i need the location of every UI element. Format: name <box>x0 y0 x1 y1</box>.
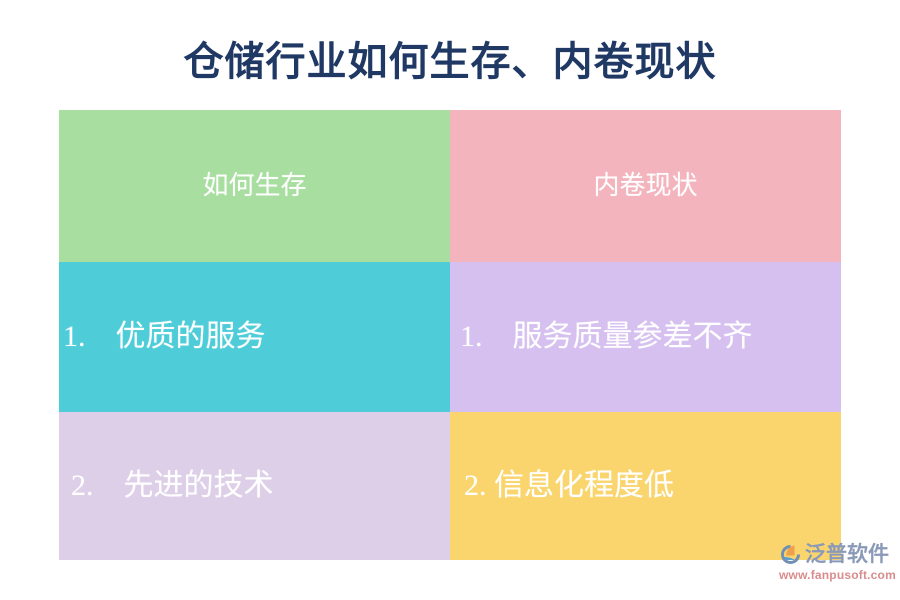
table-row: 2. 信息化程度低 <box>450 412 841 560</box>
table-row: 1. 服务质量参差不齐 <box>450 262 841 412</box>
slide-canvas: 仓储行业如何生存、内卷现状 如何生存 内卷现状 1. 优质的服务 1. 服务质量… <box>0 0 900 600</box>
table-header-label: 内卷现状 <box>593 169 697 203</box>
table-cell-label: 2. 先进的技术 <box>59 466 274 506</box>
watermark-logo: 泛普软件 www.fanpusoft.com <box>778 540 896 588</box>
table-row: 2. 先进的技术 <box>59 412 450 560</box>
table-cell-label: 1. 服务质量参差不齐 <box>450 317 753 357</box>
logo-url-text: www.fanpusoft.com <box>778 568 896 583</box>
table-row: 1. 优质的服务 <box>59 262 450 412</box>
table-header-label: 如何生存 <box>202 169 306 203</box>
logo-brand-text: 泛普软件 <box>805 542 889 567</box>
table-cell-label: 2. 信息化程度低 <box>450 466 674 506</box>
logo-row: 泛普软件 <box>778 540 896 568</box>
table-header-cell-how-to-survive: 如何生存 <box>59 110 450 262</box>
table-header-cell-involution-status: 内卷现状 <box>450 110 841 262</box>
comparison-table: 如何生存 内卷现状 1. 优质的服务 1. 服务质量参差不齐 2. 先进的技术 … <box>59 110 841 560</box>
fanpu-circle-logo-icon <box>778 542 803 567</box>
table-cell-label: 1. 优质的服务 <box>59 317 266 357</box>
page-title: 仓储行业如何生存、内卷现状 <box>0 36 900 88</box>
